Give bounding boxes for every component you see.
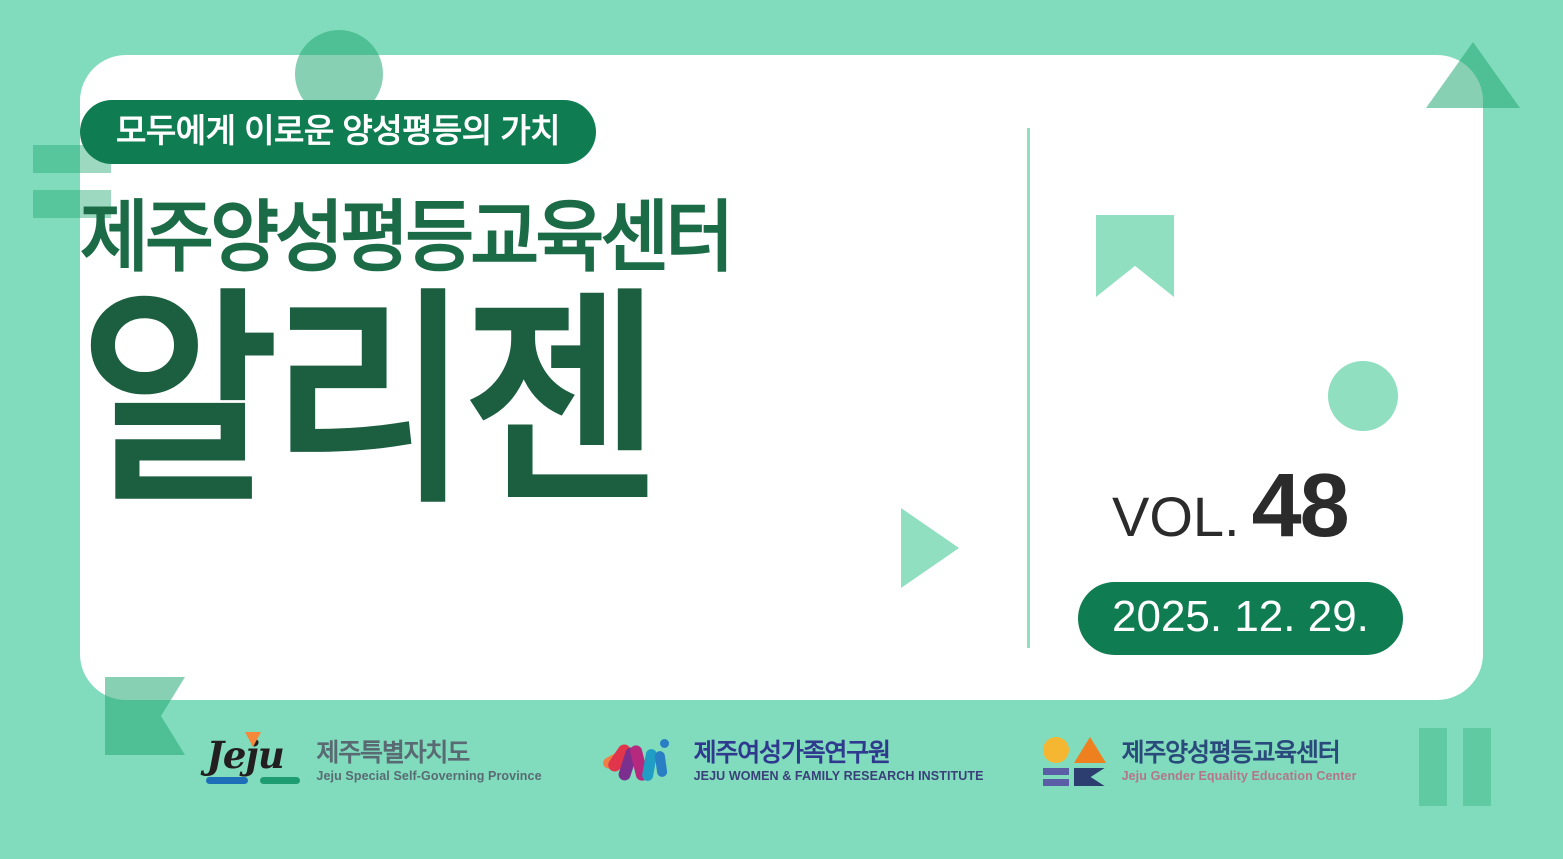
gec-triangle-icon xyxy=(1074,737,1106,763)
jeju-heart-icon xyxy=(245,732,261,747)
jwfi-dot-icon xyxy=(660,739,669,748)
logo-gec-text: 제주양성평등교육센터 Jeju Gender Equality Educatio… xyxy=(1122,739,1357,784)
logo-jwfi: 제주여성가족연구원 JEJU WOMEN & FAMILY RESEARCH I… xyxy=(600,735,984,787)
volume-number: 48 xyxy=(1252,455,1348,558)
logo-jeju-province: Jeju 제주특별자치도 Jeju Special Self-Governing… xyxy=(206,735,541,787)
tagline-badge: 모두에게 이로운 양성평등의 가치 xyxy=(80,100,596,164)
logo-jwfi-ko: 제주여성가족연구원 xyxy=(694,739,984,767)
logo-gec-ko: 제주양성평등교육센터 xyxy=(1122,739,1357,767)
center-name: 제주양성평등교육센터 xyxy=(80,198,731,276)
logo-gec-en: Jeju Gender Equality Education Center xyxy=(1122,769,1357,784)
logo-jeju-province-text: 제주특별자치도 Jeju Special Self-Governing Prov… xyxy=(316,739,541,784)
headline-group: 모두에게 이로운 양성평등의 가치 제주양성평등교육센터 알리젠 xyxy=(80,100,758,508)
gec-flag-icon xyxy=(1074,768,1105,786)
volume-line: VOL. 48 xyxy=(1010,455,1440,558)
issue-date-badge: 2025. 12. 29. xyxy=(1078,582,1403,655)
jeju-green-stroke-icon xyxy=(260,777,300,784)
gec-circle-icon xyxy=(1043,737,1069,763)
logo-jwfi-text: 제주여성가족연구원 JEJU WOMEN & FAMILY RESEARCH I… xyxy=(694,739,984,784)
volume-label: VOL. xyxy=(1112,484,1240,549)
jwfi-stroke-blue-icon xyxy=(654,750,668,777)
page-title: 알리젠 xyxy=(80,282,758,521)
jwfi-symbol-icon xyxy=(600,735,680,787)
gec-bar-lower-icon xyxy=(1043,779,1069,786)
circle-card-right-icon xyxy=(1328,361,1398,431)
gec-bar-upper-icon xyxy=(1043,768,1069,775)
logo-gender-equality-center: 제주양성평등교육센터 Jeju Gender Equality Educatio… xyxy=(1042,735,1357,787)
play-triangle-icon xyxy=(901,508,959,588)
jeju-wordmark-icon: Jeju xyxy=(206,735,302,787)
logo-jeju-province-en: Jeju Special Self-Governing Province xyxy=(316,769,541,784)
bookmark-icon xyxy=(1096,215,1174,297)
triangle-top-right-icon xyxy=(1426,42,1520,108)
footer-logo-row: Jeju 제주특별자치도 Jeju Special Self-Governing… xyxy=(0,735,1563,787)
logo-jwfi-en: JEJU WOMEN & FAMILY RESEARCH INSTITUTE xyxy=(694,769,984,784)
banner-canvas: 모두에게 이로운 양성평등의 가치 제주양성평등교육센터 알리젠 VOL. 48… xyxy=(0,0,1563,859)
logo-jeju-province-ko: 제주특별자치도 xyxy=(316,739,541,767)
gec-symbol-icon xyxy=(1042,735,1108,787)
jeju-blue-stroke-icon xyxy=(206,777,248,784)
issue-info-group: VOL. 48 2025. 12. 29. xyxy=(1010,455,1440,655)
